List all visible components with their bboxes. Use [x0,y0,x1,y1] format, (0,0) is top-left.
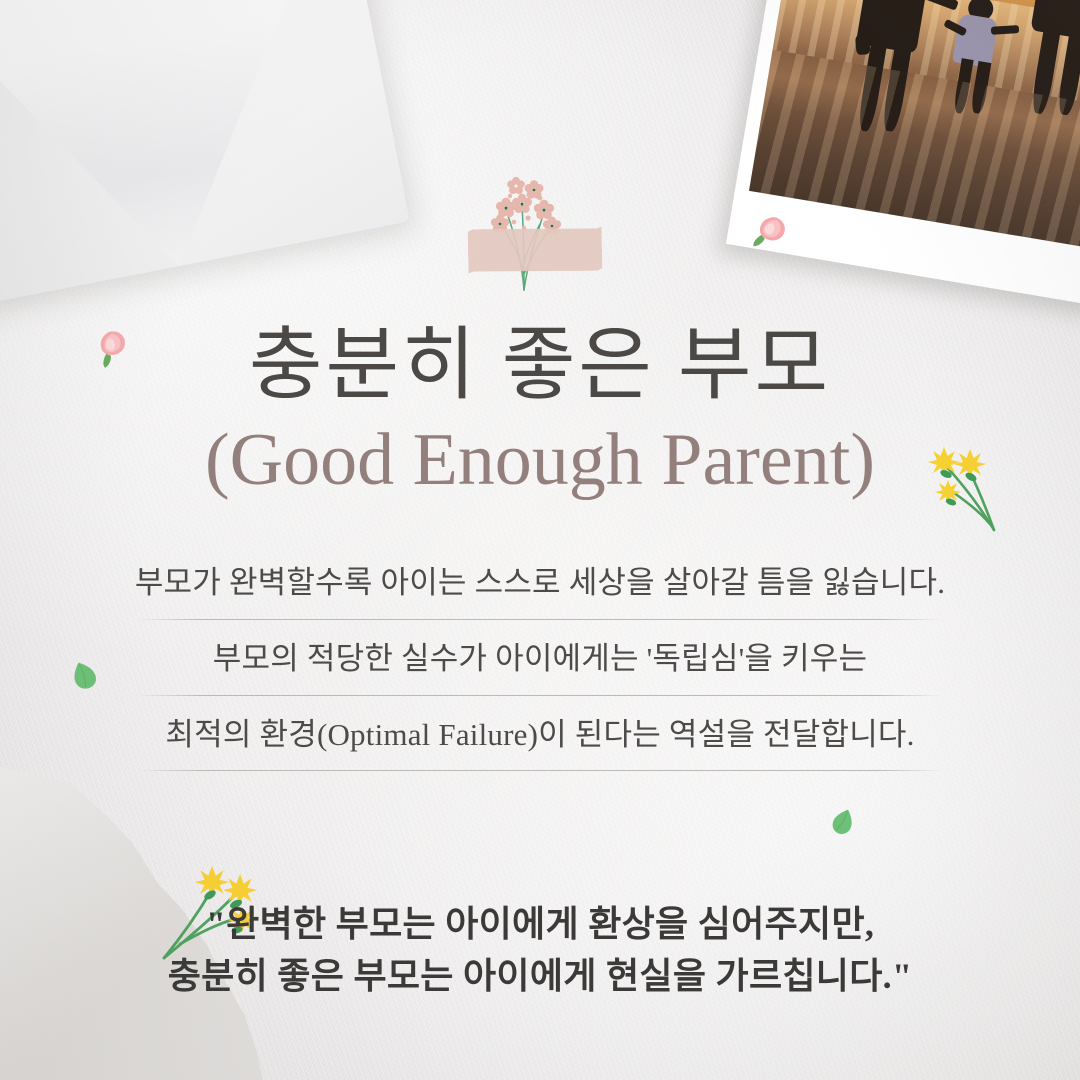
body-text-block: 부모가 완벽할수록 아이는 스스로 세상을 살아갈 틈을 잃습니다. 부모의 적… [0,558,1080,785]
title-english: (Good Enough Parent) [0,418,1080,503]
title-korean: 충분히 좋은 부모 [0,300,1080,416]
body-line-1: 부모가 완벽할수록 아이는 스스로 세상을 살아갈 틈을 잃습니다. [0,558,1080,619]
divider-3 [137,770,943,771]
body-line-2: 부모의 적당한 실수가 아이에게는 '독립심'을 키우는 [0,634,1080,695]
quote-line-1: "완벽한 부모는 아이에게 환상을 심어주지만, [0,898,1080,950]
body-line-3: 최적의 환경(Optimal Failure)이 된다는 역설을 전달합니다. [0,710,1080,771]
divider-1 [137,619,943,620]
card-content: 충분히 좋은 부모 (Good Enough Parent) 부모가 완벽할수록… [0,0,1080,1080]
parenting-quote-card: 충분히 좋은 부모 (Good Enough Parent) 부모가 완벽할수록… [0,0,1080,1080]
divider-2 [137,695,943,696]
quote-line-2: 충분히 좋은 부모는 아이에게 현실을 가르칩니다." [0,950,1080,1002]
quote-block: "완벽한 부모는 아이에게 환상을 심어주지만, 충분히 좋은 부모는 아이에게… [0,898,1080,1002]
